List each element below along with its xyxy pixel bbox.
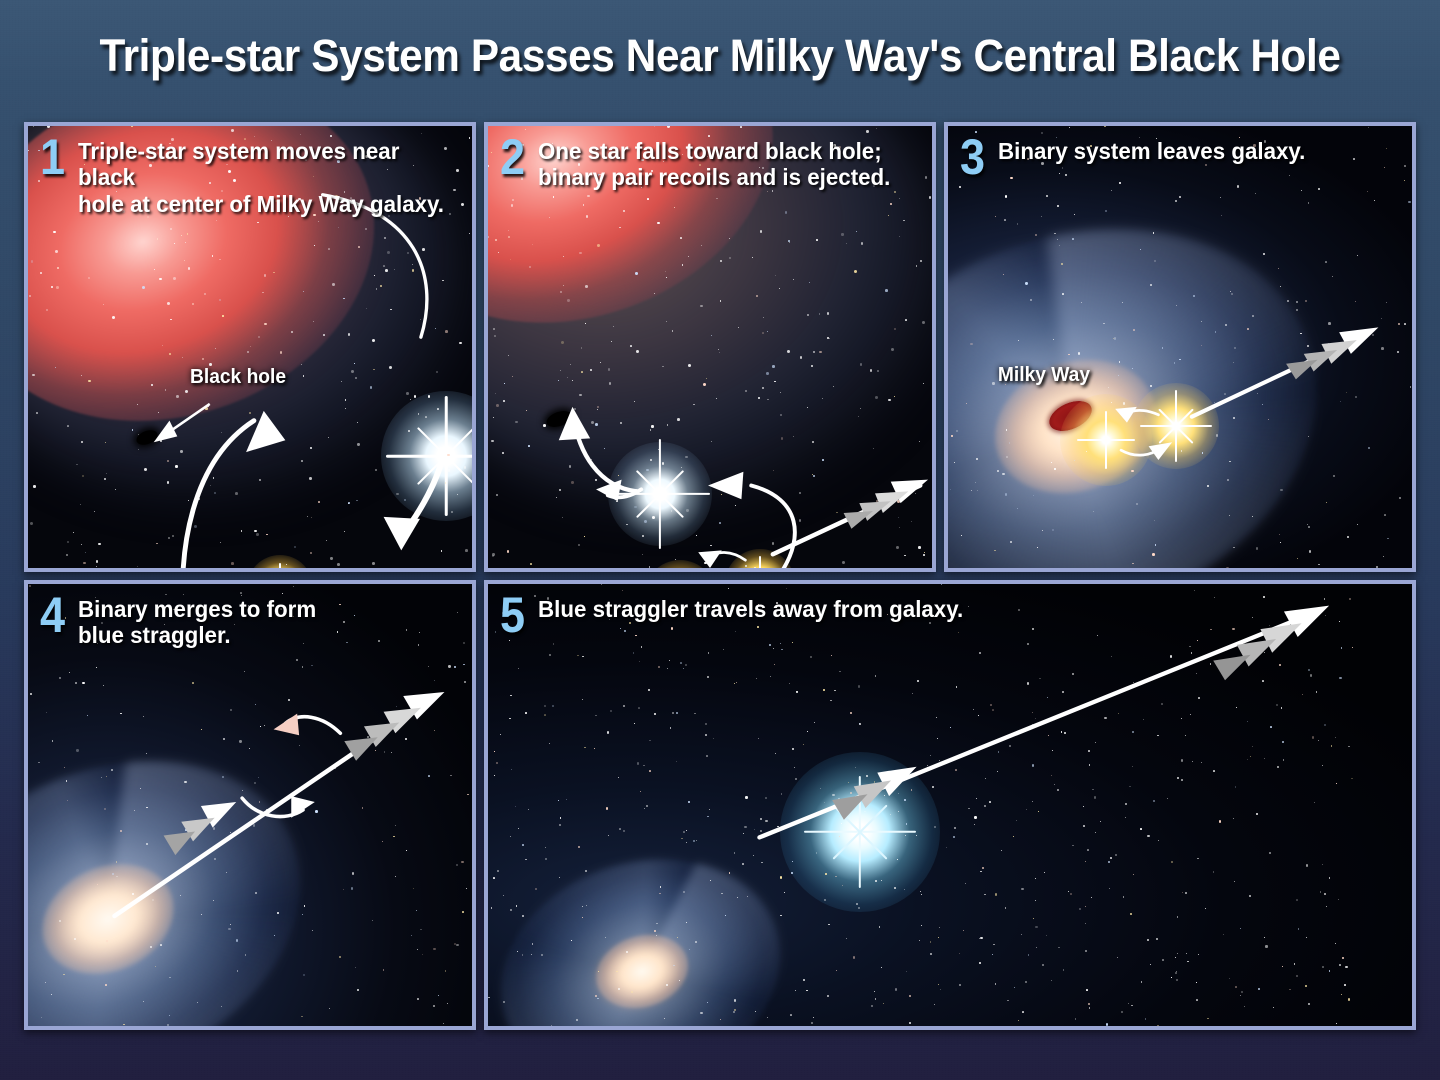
panel-step-3: Milky Way 3 Binary system leaves galaxy. [944, 122, 1416, 572]
black-hole-label: Black hole [190, 366, 286, 389]
panel-4-artwork [28, 584, 472, 1026]
trajectory-arrows-4 [28, 584, 472, 1026]
trajectory-arrows-2 [488, 126, 932, 568]
travel-arrow [759, 606, 1329, 838]
panel-2-artwork [488, 126, 932, 568]
page-title: Triple-star System Passes Near Milky Way… [43, 30, 1397, 82]
panel-step-1: Black hole 1 Triple-star system moves ne… [24, 122, 476, 572]
milky-way-label: Milky Way [998, 364, 1090, 387]
escape-arrow [1192, 327, 1379, 416]
trajectory-arrows-3 [948, 126, 1412, 568]
panel-step-2: 2 One star falls toward black hole; bina… [484, 122, 936, 572]
panel-5-artwork [488, 584, 1412, 1026]
panel-1-artwork: Black hole [28, 126, 472, 568]
panel-3-artwork: Milky Way [948, 126, 1412, 568]
panel-step-4: 4 Binary merges to form blue straggler. [24, 580, 476, 1030]
panel-step-5: 5 Blue straggler travels away from galax… [484, 580, 1416, 1030]
trajectory-arrow-5 [488, 584, 1412, 1026]
ejection-arrow [773, 480, 928, 555]
trajectory-arrows-1 [28, 126, 472, 568]
